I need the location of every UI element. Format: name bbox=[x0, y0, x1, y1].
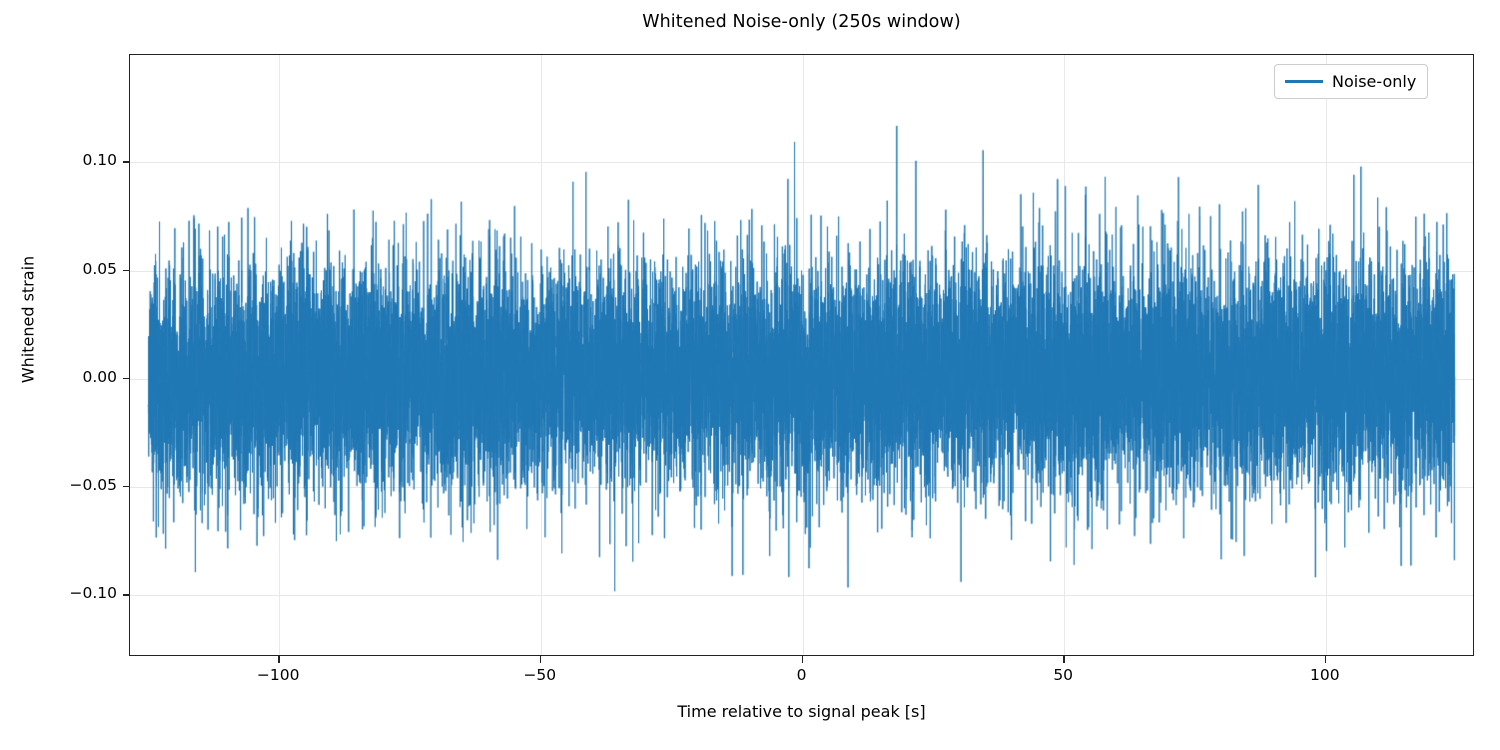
plot-axes bbox=[129, 54, 1474, 656]
legend-line-swatch bbox=[1285, 80, 1323, 82]
page-title: Whitened Noise-only (250s window) bbox=[129, 12, 1474, 32]
noise-only-trace bbox=[130, 55, 1473, 655]
x-tick-label: 50 bbox=[1053, 666, 1073, 684]
legend: Noise-only bbox=[1274, 64, 1428, 99]
figure-canvas: Whitened Noise-only (250s window) −0.10−… bbox=[0, 0, 1500, 750]
y-tick-label: 0.05 bbox=[82, 260, 117, 278]
y-tick-label: 0.10 bbox=[82, 151, 117, 169]
x-tick-mark bbox=[278, 656, 279, 663]
y-tick-label: 0.00 bbox=[82, 368, 117, 386]
legend-label: Noise-only bbox=[1332, 72, 1416, 91]
y-tick-mark bbox=[123, 378, 130, 379]
x-tick-mark bbox=[1063, 656, 1064, 663]
x-tick-label: 100 bbox=[1310, 666, 1340, 684]
x-tick-mark bbox=[540, 656, 541, 663]
y-tick-label: −0.05 bbox=[70, 476, 118, 494]
y-tick-mark bbox=[123, 161, 130, 162]
y-tick-label: −0.10 bbox=[70, 584, 118, 602]
y-tick-mark bbox=[123, 486, 130, 487]
x-tick-label: 0 bbox=[797, 666, 807, 684]
x-tick-label: −50 bbox=[523, 666, 556, 684]
x-tick-mark bbox=[802, 656, 803, 663]
y-axis-label: Whitened strain bbox=[19, 170, 38, 470]
y-tick-mark bbox=[123, 270, 130, 271]
x-tick-mark bbox=[1325, 656, 1326, 663]
x-axis-label: Time relative to signal peak [s] bbox=[129, 702, 1474, 721]
x-tick-label: −100 bbox=[257, 666, 300, 684]
y-tick-mark bbox=[123, 594, 130, 595]
